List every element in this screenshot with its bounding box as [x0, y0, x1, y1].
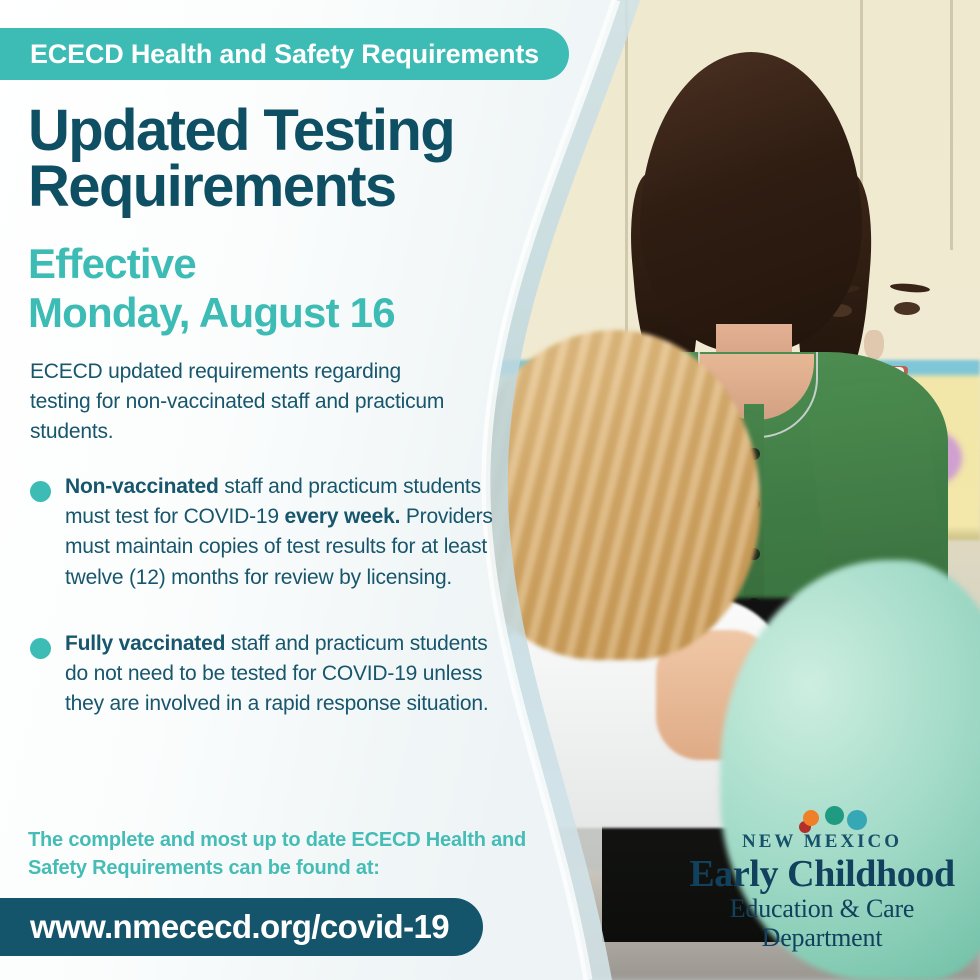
content-panel: ECECD Health and Safety Requirements Upd… — [0, 0, 620, 980]
footnote-text: The complete and most up to date ECECD H… — [28, 826, 573, 883]
logo-figures — [672, 768, 972, 824]
effective-date-heading: Effective Monday, August 16 — [28, 240, 548, 337]
logo-subtitle: Education & Care Department — [672, 895, 972, 952]
effective-label: Effective — [28, 240, 196, 287]
ececd-logo: New Mexico Early Childhood Education & C… — [672, 768, 972, 928]
effective-date: Monday, August 16 — [28, 289, 548, 338]
intro-paragraph: ECECD updated requirements regarding tes… — [30, 357, 460, 446]
page-title-line2: Requirements — [28, 159, 588, 215]
list-item: Fully vaccinated staff and practicum stu… — [30, 629, 510, 720]
list-item-text: Fully vaccinated staff and practicum stu… — [65, 629, 505, 720]
bullet-dot-icon — [30, 481, 51, 502]
banner-pill: ECECD Health and Safety Requirements — [0, 28, 569, 80]
logo-title: Early Childhood — [672, 854, 972, 894]
bullet-2-lead: Fully vaccinated — [65, 632, 225, 655]
bullet-1-lead: Non-vaccinated — [65, 475, 219, 498]
list-item: Non-vaccinated staff and practicum stude… — [30, 472, 510, 593]
bullet-dot-icon — [30, 638, 51, 659]
url-pill[interactable]: www.nmececd.org/covid-19 — [0, 898, 483, 956]
requirements-list: Non-vaccinated staff and practicum stude… — [30, 472, 510, 746]
logo-state-name: New Mexico — [672, 831, 972, 853]
banner-label: ECECD Health and Safety Requirements — [30, 39, 539, 70]
list-item-text: Non-vaccinated staff and practicum stude… — [65, 472, 505, 593]
bullet-1-lead2: every week. — [284, 505, 400, 528]
page-title: Updated Testing Requirements — [28, 103, 588, 214]
website-url[interactable]: www.nmececd.org/covid-19 — [30, 908, 449, 946]
poster-canvas: ECECD Health and Safety Requirements Upd… — [0, 0, 980, 980]
